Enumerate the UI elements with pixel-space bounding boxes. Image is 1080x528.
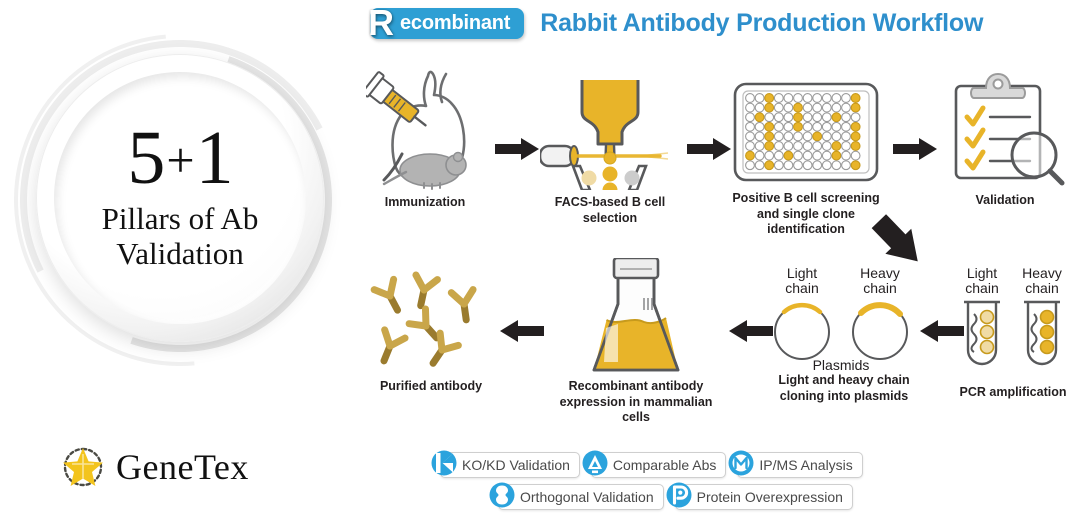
pillars-row-2: Orthogonal Validation Protein Overexpres…	[440, 484, 1070, 510]
well-positive	[794, 122, 803, 131]
erlenmeyer-flask-icon	[548, 258, 724, 374]
recombinant-badge: R ecombinant	[370, 8, 524, 39]
well-empty	[774, 94, 783, 103]
step-caption: FACS-based B cell selection	[540, 195, 680, 226]
genetex-logo: GeneTex	[60, 444, 249, 490]
well-empty	[842, 142, 851, 151]
pcr-heavy-chain-label: Heavy	[1022, 266, 1062, 281]
arrow-left-1	[498, 320, 544, 347]
well-empty	[746, 94, 755, 103]
step-bcell-screening: Positive B cell screening and single clo…	[730, 78, 882, 238]
well-positive	[784, 151, 793, 160]
pillar-orthogonal-validation[interactable]: Orthogonal Validation	[498, 484, 664, 510]
well-empty	[765, 151, 774, 160]
p-badge-icon	[666, 482, 692, 513]
well-empty	[803, 161, 812, 170]
pillar-label: IP/MS Analysis	[759, 457, 852, 473]
well-empty	[774, 151, 783, 160]
k-badge-icon	[431, 450, 457, 481]
o-badge-icon	[489, 482, 515, 513]
well-empty	[755, 142, 764, 151]
well-empty	[842, 94, 851, 103]
pillar-ko-kd-validation[interactable]: KO/KD Validation	[440, 452, 580, 478]
well-empty	[755, 103, 764, 112]
well-positive	[832, 142, 841, 151]
well-plate-icon	[730, 78, 882, 186]
well-empty	[746, 122, 755, 131]
well-empty	[774, 132, 783, 141]
step-immunization: Immunization	[366, 62, 484, 211]
step-caption: Recombinant antibody expression in mamma…	[548, 379, 724, 426]
well-empty	[822, 113, 831, 122]
well-empty	[842, 161, 851, 170]
well-empty	[784, 103, 793, 112]
well-empty	[784, 142, 793, 151]
validation-pillars-group: KO/KD Validation Comparable Abs	[440, 452, 1070, 510]
badge-number: 5+1	[127, 124, 232, 194]
pillar-label: Protein Overexpression	[697, 489, 843, 505]
well-positive	[765, 161, 774, 170]
well-positive	[794, 103, 803, 112]
badge-plus-sign: +	[166, 132, 193, 188]
well-positive	[765, 122, 774, 131]
well-positive	[813, 132, 822, 141]
well-empty	[813, 94, 822, 103]
well-empty	[794, 94, 803, 103]
well-empty	[755, 132, 764, 141]
step-pcr-amplification: Light chain Heavy chain PC	[950, 266, 1076, 401]
rabbit-mouse-syringe-icon	[366, 62, 484, 190]
well-empty	[813, 161, 822, 170]
well-empty	[822, 151, 831, 160]
well-empty	[842, 122, 851, 131]
well-positive	[794, 113, 803, 122]
step-purified-antibody: Purified antibody	[368, 268, 494, 395]
pillar-ip-ms-analysis[interactable]: IP/MS Analysis	[737, 452, 862, 478]
badge-line-2: Validation	[116, 236, 243, 272]
well-empty	[803, 132, 812, 141]
well-empty	[746, 113, 755, 122]
genetex-star-icon	[60, 444, 106, 490]
badge-line-1: Pillars of Ab	[102, 201, 259, 237]
svg-text:chain: chain	[965, 280, 998, 296]
step-facs-selection: FACS-based B cell selection	[540, 70, 680, 226]
page-title: Rabbit Antibody Production Workflow	[540, 9, 983, 38]
badge-number-one: 1	[196, 116, 233, 200]
plasmids-icon: Light chain Heavy chain Plasmids	[762, 266, 926, 370]
well-positive	[851, 122, 860, 131]
well-empty	[822, 132, 831, 141]
well-empty	[765, 113, 774, 122]
step-caption: Positive B cell screening and single clo…	[730, 191, 882, 238]
arrow-right-2	[687, 138, 731, 165]
recombinant-label: ecombinant	[400, 12, 510, 35]
well-empty	[774, 161, 783, 170]
pillar-comparable-abs[interactable]: Comparable Abs	[591, 452, 727, 478]
pillar-label: KO/KD Validation	[462, 457, 570, 473]
pillar-label: Orthogonal Validation	[520, 489, 654, 505]
pcr-tubes-icon: Light chain Heavy chain	[950, 266, 1076, 374]
well-empty	[842, 151, 851, 160]
facs-sorter-icon	[540, 70, 680, 190]
well-empty	[813, 122, 822, 131]
circular-badge: 5+1 Pillars of Ab Validation	[14, 36, 344, 386]
well-empty	[774, 113, 783, 122]
well-empty	[794, 132, 803, 141]
recombinant-r-glyph: R	[361, 3, 401, 43]
well-empty	[842, 113, 851, 122]
svg-text:chain: chain	[1025, 280, 1058, 296]
well-empty	[746, 132, 755, 141]
well-empty	[842, 132, 851, 141]
step-caption: Immunization	[366, 195, 484, 211]
step-caption: Purified antibody	[368, 379, 494, 395]
pillar-protein-overexpression[interactable]: Protein Overexpression	[675, 484, 853, 510]
well-empty	[784, 161, 793, 170]
well-empty	[832, 103, 841, 112]
well-positive	[851, 132, 860, 141]
step-caption: Validation	[942, 193, 1068, 209]
well-empty	[784, 113, 793, 122]
well-empty	[832, 122, 841, 131]
plasmid-light-chain-label: Light	[787, 266, 817, 281]
step-recombinant-expression: Recombinant antibody expression in mamma…	[548, 258, 724, 426]
svg-text:chain: chain	[785, 280, 818, 296]
well-empty	[794, 161, 803, 170]
well-positive	[755, 113, 764, 122]
antibodies-icon	[368, 268, 494, 374]
well-empty	[774, 103, 783, 112]
badge-text-block: 5+1 Pillars of Ab Validation	[54, 72, 306, 324]
pillars-badge-panel: 5+1 Pillars of Ab Validation GeneTex	[0, 0, 360, 528]
well-empty	[822, 142, 831, 151]
well-empty	[746, 161, 755, 170]
arrow-right-3	[893, 138, 937, 165]
infographic-canvas: 5+1 Pillars of Ab Validation GeneTex R e…	[0, 0, 1080, 528]
well-empty	[813, 103, 822, 112]
well-empty	[803, 113, 812, 122]
well-empty	[822, 122, 831, 131]
well-positive	[832, 151, 841, 160]
well-empty	[822, 103, 831, 112]
well-empty	[794, 142, 803, 151]
well-empty	[803, 151, 812, 160]
well-empty	[794, 151, 803, 160]
well-empty	[803, 142, 812, 151]
well-empty	[784, 94, 793, 103]
well-empty	[813, 142, 822, 151]
pcr-light-chain-label: Light	[967, 266, 997, 281]
well-positive	[746, 151, 755, 160]
well-empty	[784, 122, 793, 131]
well-empty	[755, 151, 764, 160]
plasmids-label: Plasmids	[813, 357, 870, 370]
well-positive	[851, 161, 860, 170]
well-positive	[851, 103, 860, 112]
well-empty	[803, 122, 812, 131]
plasmid-heavy-chain-label: Heavy	[860, 266, 900, 281]
step-caption: PCR amplification	[950, 385, 1076, 401]
m-badge-icon	[728, 450, 754, 481]
well-positive	[851, 94, 860, 103]
well-empty	[746, 142, 755, 151]
genetex-wordmark: GeneTex	[116, 446, 249, 488]
well-positive	[765, 142, 774, 151]
well-positive	[851, 142, 860, 151]
well-positive	[765, 94, 774, 103]
well-empty	[832, 161, 841, 170]
well-positive	[765, 103, 774, 112]
well-empty	[842, 103, 851, 112]
a-badge-icon	[582, 450, 608, 481]
pillar-label: Comparable Abs	[613, 457, 717, 473]
well-empty	[851, 113, 860, 122]
well-empty	[803, 94, 812, 103]
step-validation: Validation	[942, 72, 1068, 209]
well-empty	[851, 151, 860, 160]
well-empty	[755, 94, 764, 103]
well-empty	[822, 94, 831, 103]
well-positive	[765, 132, 774, 141]
well-empty	[774, 142, 783, 151]
well-empty	[755, 161, 764, 170]
well-empty	[832, 132, 841, 141]
arrow-right-1	[495, 138, 539, 165]
well-empty	[813, 113, 822, 122]
clipboard-magnifier-icon	[942, 72, 1068, 188]
well-empty	[746, 103, 755, 112]
well-empty	[755, 122, 764, 131]
well-positive	[832, 113, 841, 122]
well-empty	[822, 161, 831, 170]
pillars-row-1: KO/KD Validation Comparable Abs	[440, 452, 1070, 478]
svg-text:chain: chain	[863, 280, 896, 296]
badge-number-five: 5	[127, 116, 164, 200]
well-empty	[803, 103, 812, 112]
step-plasmid-cloning: Light chain Heavy chain Plasmids Light a…	[762, 266, 926, 404]
well-empty	[784, 132, 793, 141]
well-empty	[832, 94, 841, 103]
workflow-header: R ecombinant Rabbit Antibody Production …	[370, 8, 983, 39]
well-empty	[813, 151, 822, 160]
well-empty	[774, 122, 783, 131]
step-caption: Light and heavy chain cloning into plasm…	[762, 373, 926, 404]
